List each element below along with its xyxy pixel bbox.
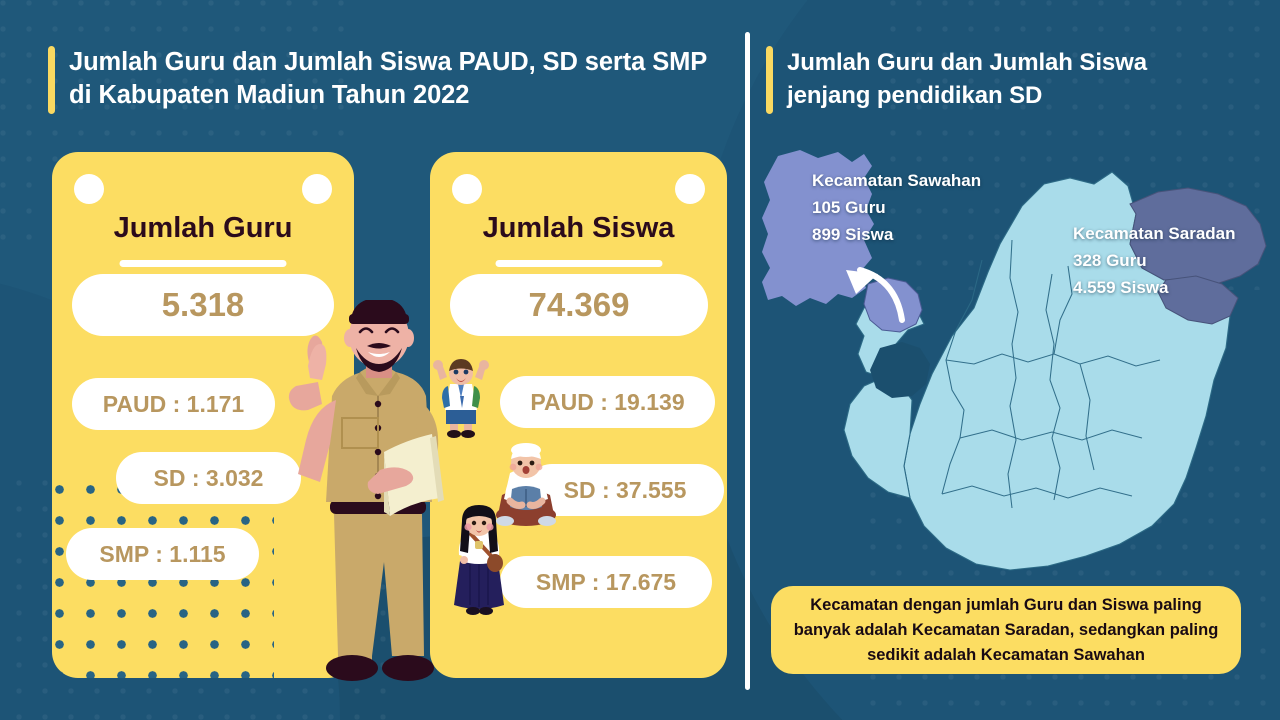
card-title-guru: Jumlah Guru <box>52 212 354 245</box>
punch-hole-right <box>302 174 332 204</box>
summary-note-text: Kecamatan dengan jumlah Guru dan Siswa p… <box>785 593 1227 668</box>
stat-row-siswa-smp: SMP : 17.675 <box>500 556 712 608</box>
panel-divider <box>745 32 750 690</box>
stat-row-siswa-paud: PAUD : 19.139 <box>500 376 715 428</box>
punch-hole-left <box>452 174 482 204</box>
map-label-sawahan: Kecamatan Sawahan 105 Guru 899 Siswa <box>812 167 981 248</box>
infographic-canvas: Jumlah Guru dan Jumlah Siswa PAUD, SD se… <box>0 0 1280 720</box>
title-accent-bar-left <box>48 46 55 114</box>
left-panel-title-text: Jumlah Guru dan Jumlah Siswa PAUD, SD se… <box>69 46 708 112</box>
total-value-guru: 5.318 <box>72 274 334 336</box>
summary-note-box: Kecamatan dengan jumlah Guru dan Siswa p… <box>771 586 1241 674</box>
map-label-sawahan-teachers: 105 Guru <box>812 194 981 221</box>
stat-row-guru-paud: PAUD : 1.171 <box>72 378 275 430</box>
card-title-siswa: Jumlah Siswa <box>430 212 727 245</box>
card-title-underline <box>120 260 287 267</box>
right-panel-title: Jumlah Guru dan Jumlah Siswa jenjang pen… <box>766 46 1236 114</box>
map-label-saradan-teachers: 328 Guru <box>1073 247 1236 274</box>
stat-row-guru-smp: SMP : 1.115 <box>66 528 259 580</box>
map-region-dark-notch <box>870 342 930 398</box>
map-label-sawahan-name: Kecamatan Sawahan <box>812 167 981 194</box>
card-title-underline <box>495 260 662 267</box>
map-label-saradan: Kecamatan Saradan 328 Guru 4.559 Siswa <box>1073 220 1236 301</box>
map-label-saradan-students: 4.559 Siswa <box>1073 274 1236 301</box>
map-label-sawahan-students: 899 Siswa <box>812 221 981 248</box>
punch-hole-right <box>675 174 705 204</box>
map-label-saradan-name: Kecamatan Saradan <box>1073 220 1236 247</box>
title-accent-bar-right <box>766 46 773 114</box>
stat-card-guru: Jumlah Guru 5.318 PAUD : 1.171 SD : 3.03… <box>52 152 354 678</box>
stat-row-siswa-sd: SD : 37.555 <box>526 464 724 516</box>
stat-card-siswa: Jumlah Siswa 74.369 PAUD : 19.139 SD : 3… <box>430 152 727 678</box>
left-panel-title: Jumlah Guru dan Jumlah Siswa PAUD, SD se… <box>48 46 708 114</box>
stat-row-guru-sd: SD : 3.032 <box>116 452 301 504</box>
right-panel-title-text: Jumlah Guru dan Jumlah Siswa jenjang pen… <box>787 46 1236 112</box>
total-value-siswa: 74.369 <box>450 274 708 336</box>
punch-hole-left <box>74 174 104 204</box>
